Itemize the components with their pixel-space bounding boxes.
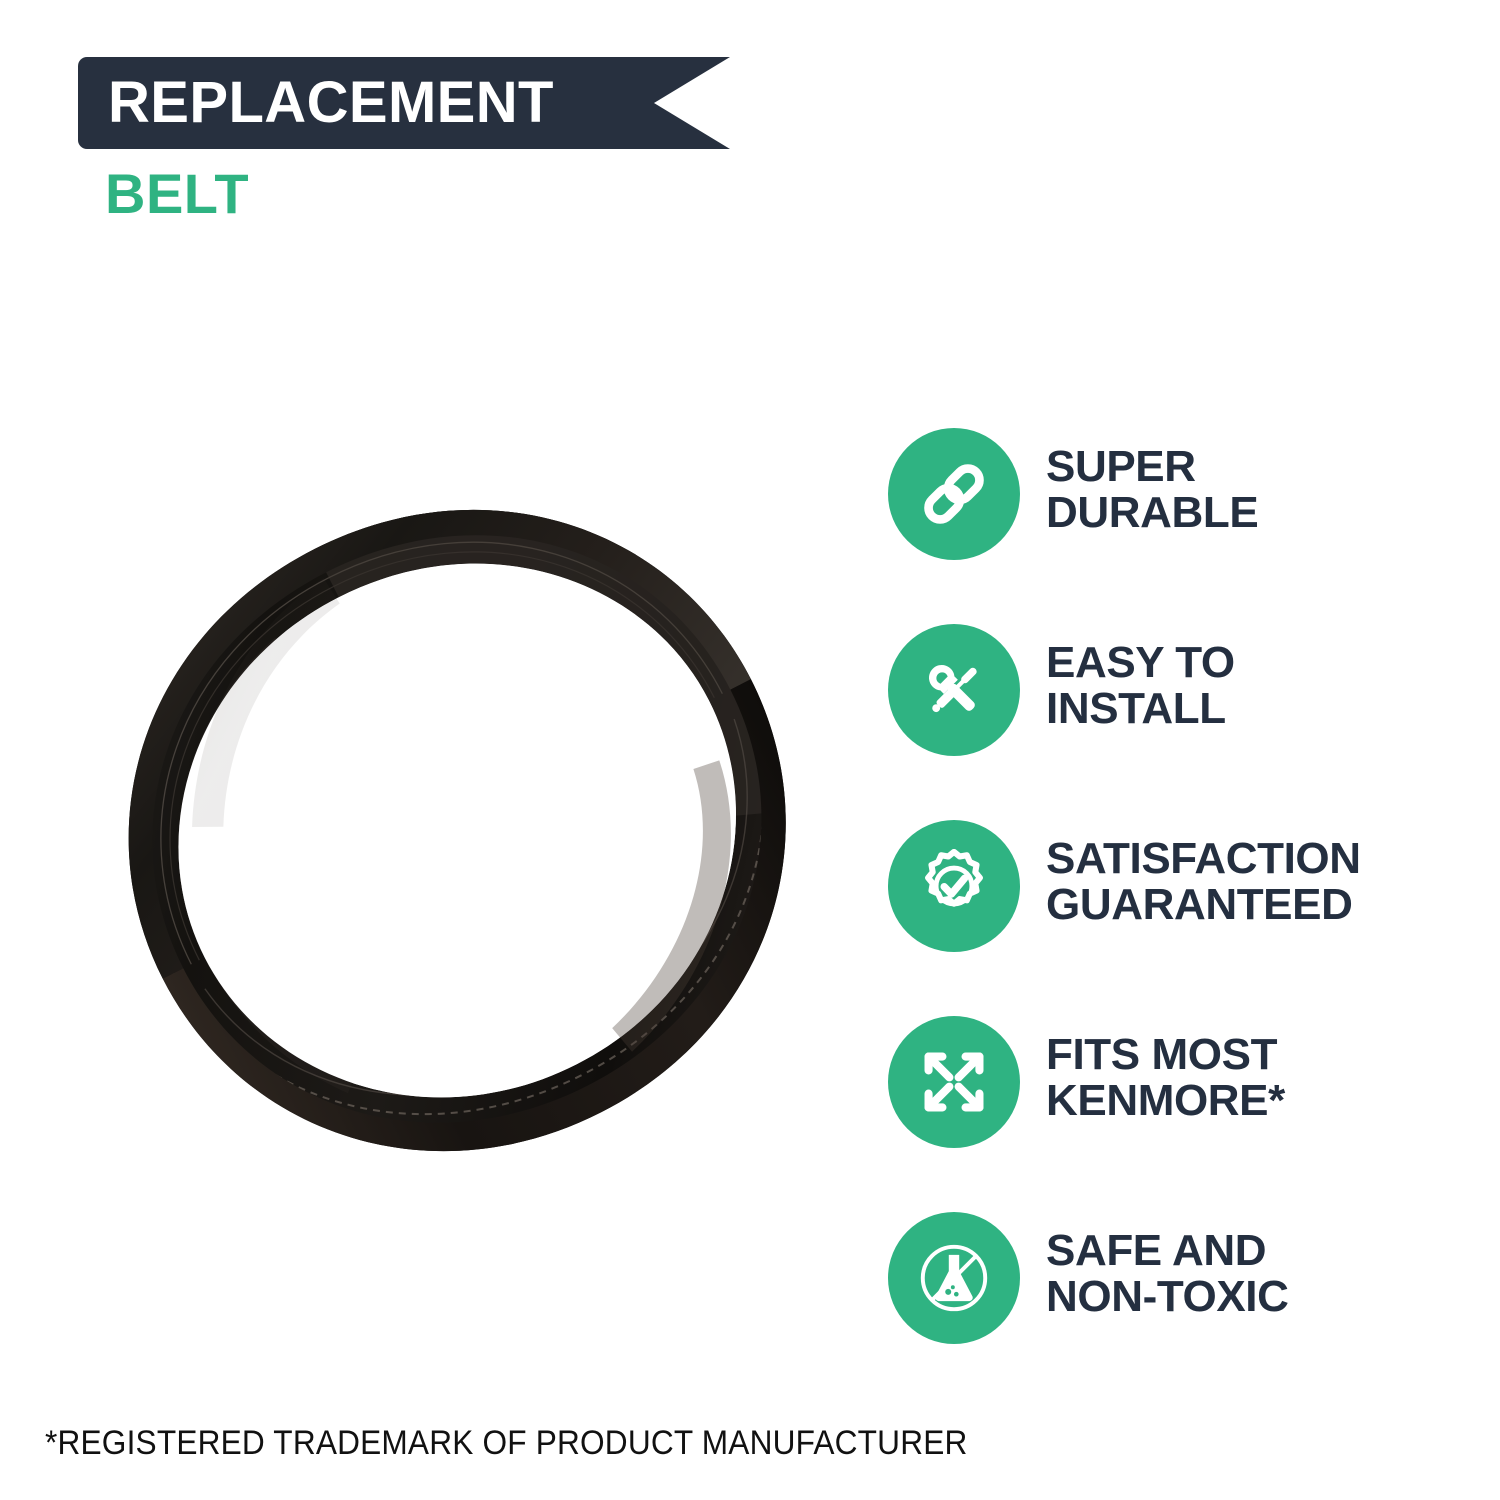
product-subtitle: BELT [105,166,778,222]
feature-list: SUPER DURABLE EASY TO INSTALL [888,428,1488,1408]
feature-icon-badge-check [888,820,1020,952]
feature-icon-chain-link [888,428,1020,560]
badge-check-icon [917,849,991,923]
feature-icon-expand-arrows [888,1016,1020,1148]
belt-illustration [30,455,900,1235]
feature-label-super-durable: SUPER DURABLE [1046,444,1258,536]
feature-row-super-durable: SUPER DURABLE [888,428,1488,624]
feature-row-safe-non-toxic: SAFE AND NON-TOXIC [888,1212,1488,1408]
feature-label-satisfaction-guaranteed: SATISFACTION GUARANTEED [1046,836,1361,928]
banner-title-text: REPLACEMENT [78,74,554,132]
no-toxic-flask-icon [917,1241,991,1315]
chain-link-icon [917,457,991,531]
feature-row-fits-most-kenmore: FITS MOST KENMORE* [888,1016,1488,1212]
header: REPLACEMENT BELT [78,57,778,222]
feature-row-easy-to-install: EASY TO INSTALL [888,624,1488,820]
footer-disclaimer: *REGISTERED TRADEMARK OF PRODUCT MANUFAC… [45,1424,968,1463]
expand-arrows-icon [917,1045,991,1119]
feature-label-fits-most-kenmore: FITS MOST KENMORE* [1046,1032,1285,1124]
feature-label-easy-to-install: EASY TO INSTALL [1046,640,1235,732]
feature-label-safe-non-toxic: SAFE AND NON-TOXIC [1046,1228,1288,1320]
feature-icon-no-toxic-flask [888,1212,1020,1344]
feature-row-satisfaction-guaranteed: SATISFACTION GUARANTEED [888,820,1488,1016]
product-photo-belt [30,455,900,1235]
feature-icon-wrench-screwdriver [888,624,1020,756]
wrench-screwdriver-icon [917,653,991,727]
belt-group [30,455,900,1235]
title-banner: REPLACEMENT [78,57,730,149]
